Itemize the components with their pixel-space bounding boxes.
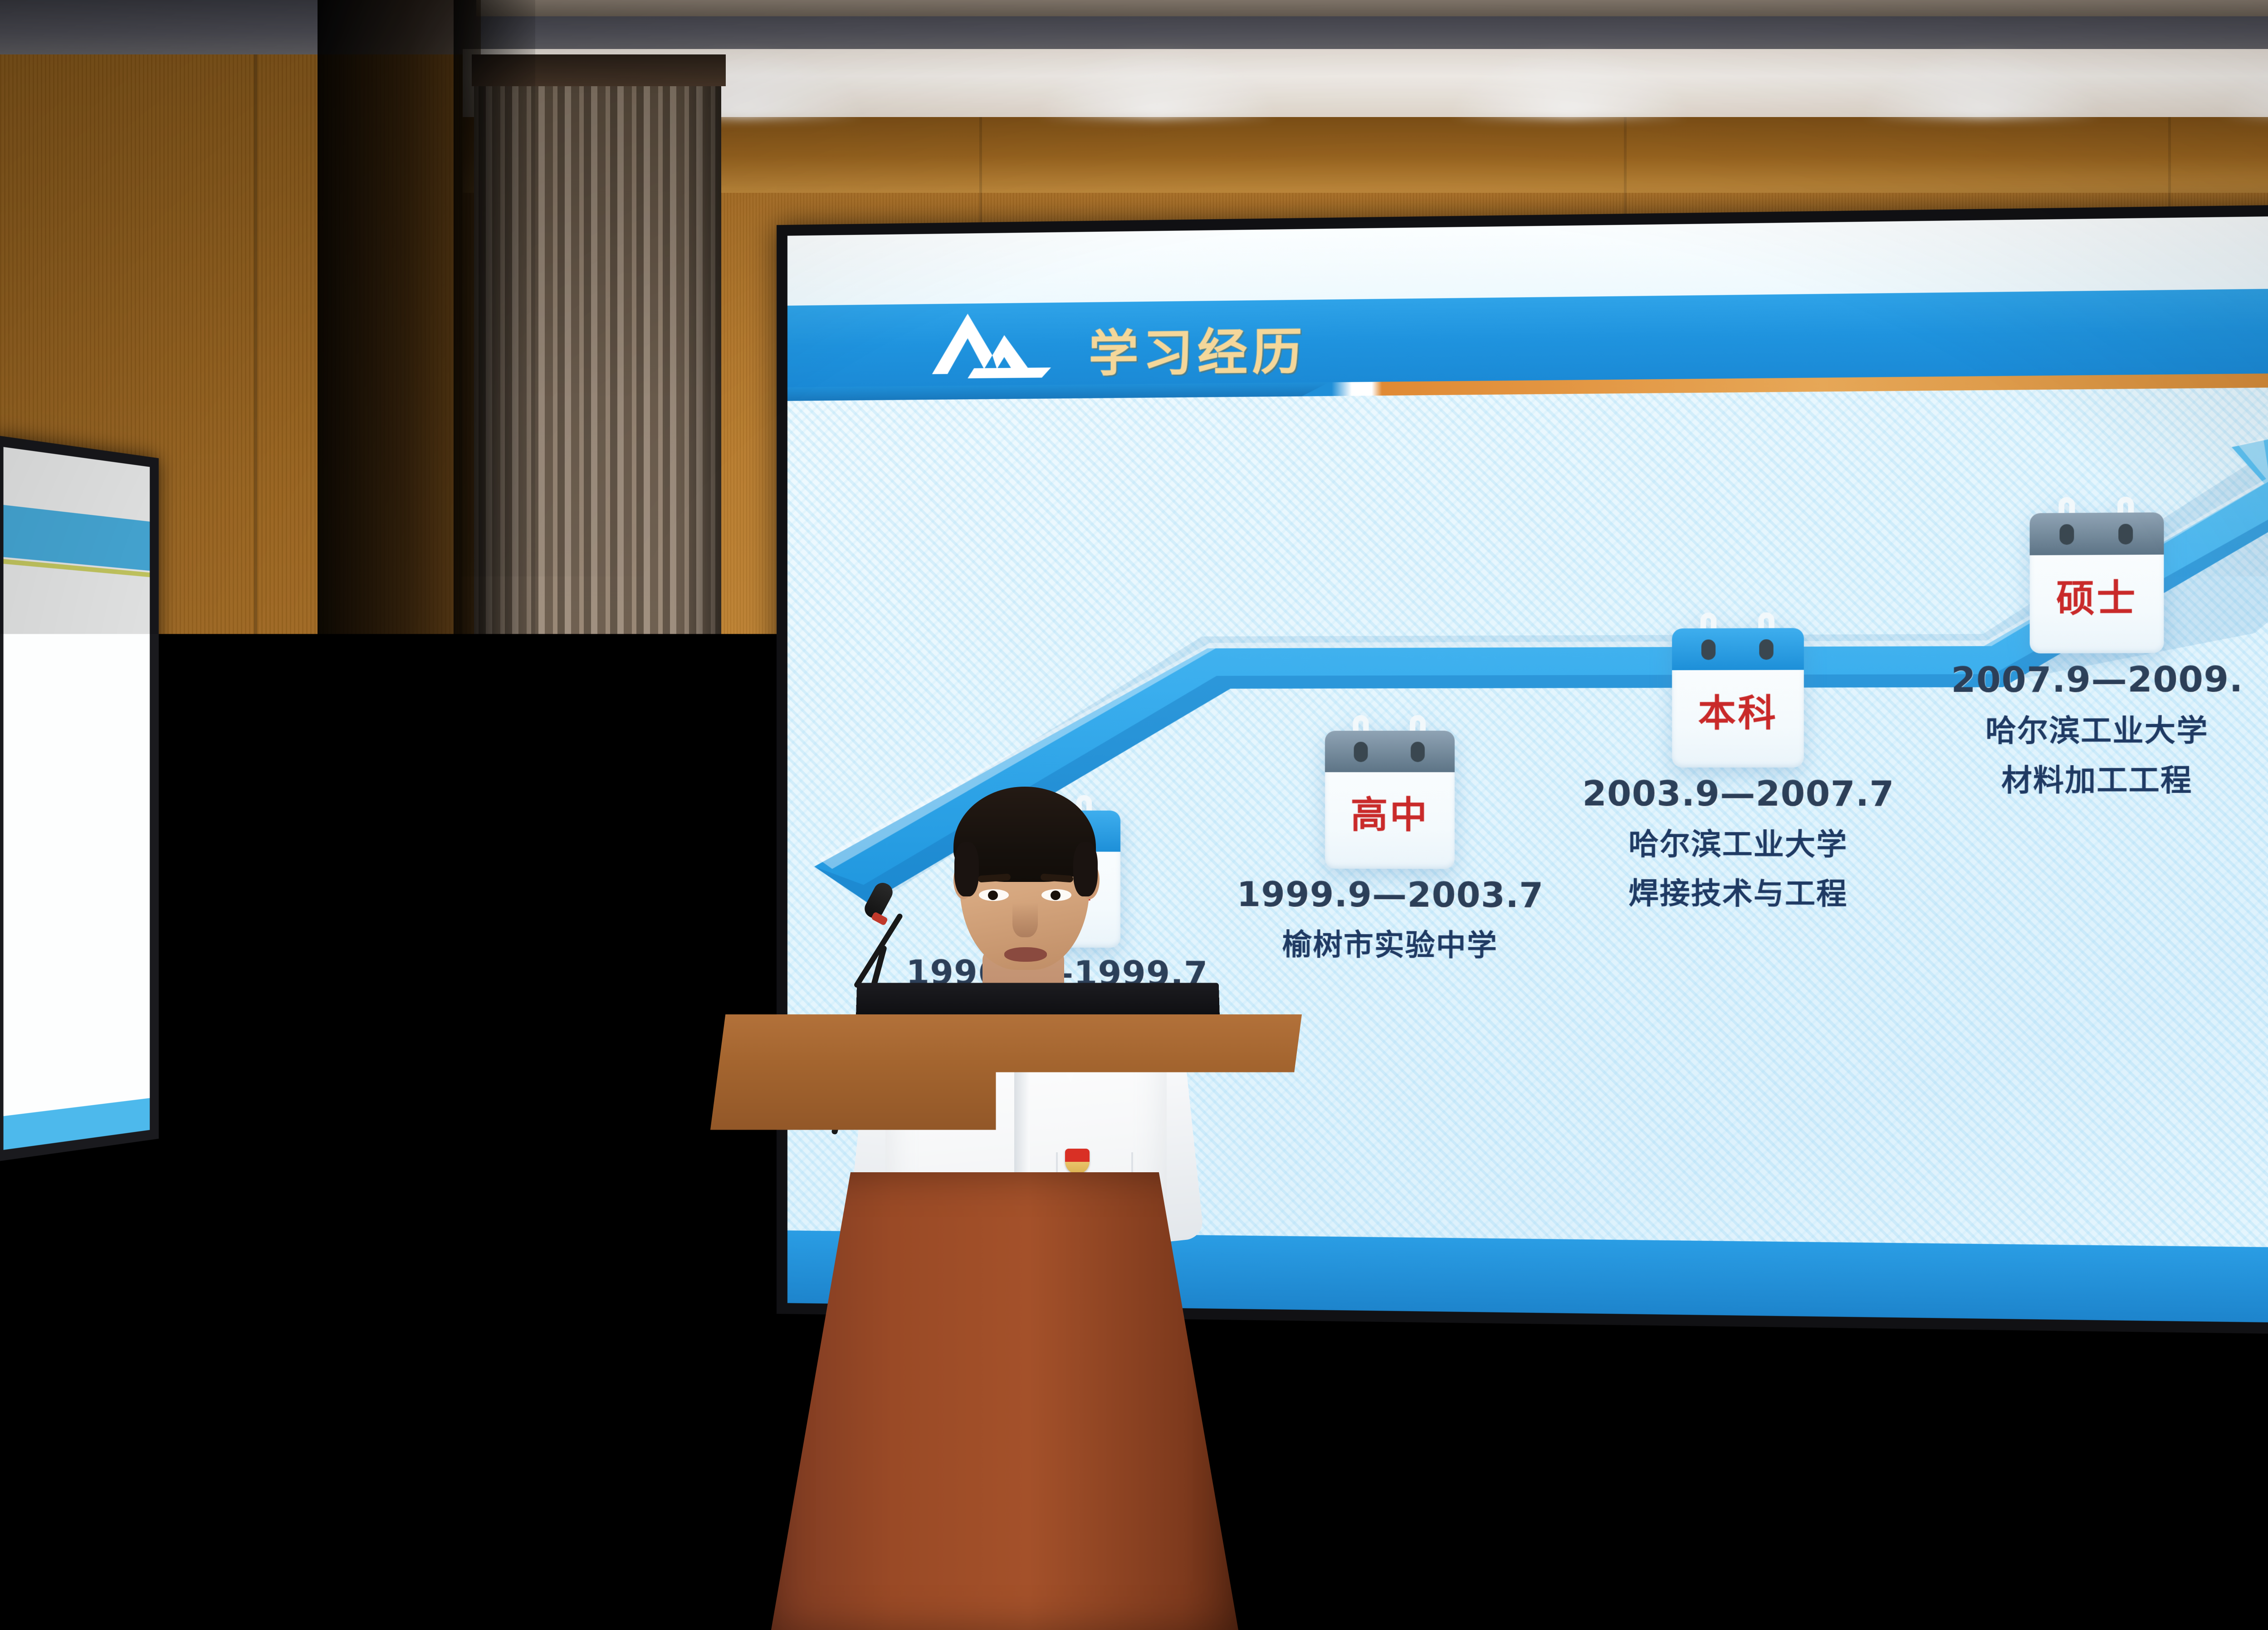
calendar-icon-3: 本科 [1672,628,1804,768]
stage-label-2: 高中 [1325,785,1455,838]
calendar-header [1672,628,1804,670]
downlight-pool [1452,49,1687,118]
hair-sideburn-left [954,842,979,896]
timeline-item-3: 本科 2003.9—2007.7 哈尔滨工业大学 焊接技术与工程 [1544,627,1933,913]
mouth [1004,947,1047,962]
side-confidence-monitor[interactable]: 3.7 学 [0,435,159,1162]
school-name-3: 哈尔滨工业大学 [1544,820,1933,864]
cam-mountain-logo-icon [924,309,1061,380]
calendar-binder-dot [1354,742,1368,762]
downlight-pool [1864,49,2100,118]
timeline-item-2: 高中 1999.9—2003.7 榆树市实验中学 [1199,730,1582,964]
podium-floor-shadow [708,1576,1343,1630]
eye-right [1041,889,1071,901]
calendar-icon-2: 高中 [1325,731,1455,869]
date-range-2: 1999.9—2003.7 [1199,875,1582,915]
slide-title: 学习经历 [1089,312,1307,386]
eye-left [979,889,1009,901]
calendar-header [2030,512,2164,555]
downlight-pool [1039,49,1275,118]
calendar-binder-dot [1411,742,1425,762]
curtain-edge-shadow [454,0,535,1630]
pupil [1051,891,1061,900]
calendar-header [1325,731,1455,772]
downlight-pool [2223,49,2268,118]
side-monitor-footer [4,1098,150,1150]
auditorium-scene: 学习经历 初中 1996.9—1999.7 黑林镇第一中学 [0,0,2268,1630]
date-range-3: 2003.9—2007.7 [1544,774,1933,814]
timeline-item-4: 硕士 2007.9—2009. 哈尔滨工业大学 材料加工工程 [1900,512,2268,800]
school-name-4: 哈尔滨工业大学 [1900,706,2268,750]
calendar-binder-dot [1701,640,1716,660]
school-name-2: 榆树市实验中学 [1199,920,1582,964]
laptop[interactable] [856,983,1220,1020]
side-monitor-partial-date: 3.7 [0,745,88,782]
calendar-binder-dot [2118,524,2133,545]
nose [1012,903,1038,937]
podium-apron [724,1130,1286,1180]
major-name-4: 材料加工工程 [1900,756,2268,799]
major-name-3: 焊接技术与工程 [1544,869,1933,913]
side-monitor-partial-text: 学 [0,789,75,827]
calendar-binder-dot [2059,524,2074,545]
calendar-icon-4: 硕士 [2030,512,2164,653]
side-monitor-slide: 3.7 学 [4,447,150,1150]
hair-sideburn-right [1073,842,1098,896]
ceiling-beam [476,0,2268,16]
podium-column [771,1172,1238,1630]
stage-label-4: 硕士 [2030,568,2164,622]
wall-seam [254,0,257,1630]
stage-label-3: 本科 [1672,683,1804,737]
date-range-4: 2007.9—2009. [1900,659,2268,700]
calendar-binder-dot [1759,639,1773,660]
pupil [988,891,998,900]
